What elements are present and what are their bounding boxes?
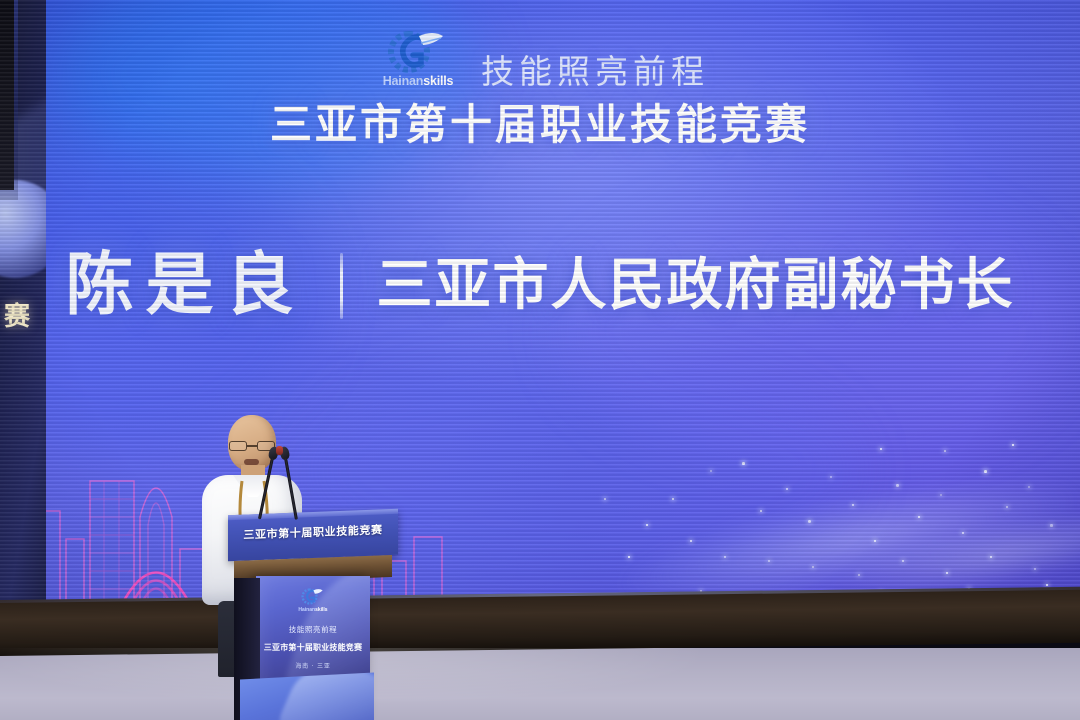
star-particle [858, 574, 860, 576]
star-particle [962, 532, 964, 534]
wall-edge-top [0, 0, 14, 190]
name-divider [340, 253, 343, 319]
podium-place: 海南 · 三亚 [295, 661, 330, 670]
hainanskills-gear-g-logo-icon: Hainanskills [371, 30, 465, 92]
star-particle [984, 470, 987, 473]
screen-slogan: 技能照亮前程 [481, 55, 709, 92]
star-particle [1012, 444, 1014, 446]
star-particle [874, 540, 876, 542]
star-particle [880, 448, 882, 450]
star-particle [812, 566, 814, 568]
star-particle [742, 462, 745, 465]
led-screen: Hainanskills 技能照亮前程 三亚市第十届职业技能竞赛 陈是良 三亚市… [0, 0, 1080, 612]
podium-slogan: 技能照亮前程 [289, 624, 338, 635]
speaker-title: 三亚市人民政府副秘书长 [377, 258, 1015, 314]
star-particle [990, 556, 992, 558]
podium-word-skills: skills [315, 607, 328, 613]
stage-scene: Hainanskills 技能照亮前程 三亚市第十届职业技能竞赛 陈是良 三亚市… [0, 0, 1080, 720]
star-particle [690, 540, 692, 542]
banner-partial-text: 赛 [4, 296, 30, 333]
lens-bridge [247, 445, 257, 447]
star-particle [896, 484, 899, 487]
podium-word-hainan: Hainan [298, 607, 315, 613]
star-particle [1050, 524, 1053, 527]
star-particle [786, 488, 788, 490]
star-particle [902, 560, 904, 562]
brand-row: Hainanskills 技能照亮前程 [0, 30, 1080, 92]
screen-event-title: 三亚市第十届职业技能竞赛 [0, 102, 1080, 148]
speaker-name: 陈是良 [65, 252, 305, 320]
floor-prompter-panel [240, 672, 374, 720]
podium-brand-wordmark: Hainanskills [298, 608, 327, 613]
screen-header: Hainanskills 技能照亮前程 三亚市第十届职业技能竞赛 [0, 30, 1080, 148]
star-particle [944, 450, 946, 452]
star-particle [1028, 486, 1030, 488]
star-particle [830, 476, 832, 478]
podium-event-title: 三亚市第十届职业技能竞赛 [264, 642, 362, 653]
speaker-name-bar: 陈是良 三亚市人民政府副秘书长 [0, 252, 1080, 320]
star-particle [918, 516, 920, 518]
star-particle [760, 510, 762, 512]
brand-word-hainan: Hainan [383, 74, 423, 88]
lens-left [229, 441, 247, 451]
star-particle [1034, 568, 1036, 570]
star-particle [646, 524, 648, 526]
podium-hainanskills-logo-icon [301, 588, 325, 605]
star-particle [710, 470, 712, 472]
stage-floor-sheen [0, 648, 1080, 720]
star-particle [768, 560, 770, 562]
star-particle [724, 556, 726, 558]
star-particle [604, 498, 606, 500]
star-particle [852, 504, 854, 506]
star-particle [808, 520, 811, 523]
star-particle [672, 498, 674, 500]
star-particle [1046, 584, 1048, 586]
star-particle [940, 494, 942, 496]
star-particle [628, 556, 630, 558]
star-particle [1006, 506, 1008, 508]
star-particle [946, 572, 948, 574]
brand-word-skills: skills [423, 74, 453, 88]
brand-wordmark: Hainanskills [383, 75, 454, 88]
mic-indicator-light [276, 446, 283, 455]
